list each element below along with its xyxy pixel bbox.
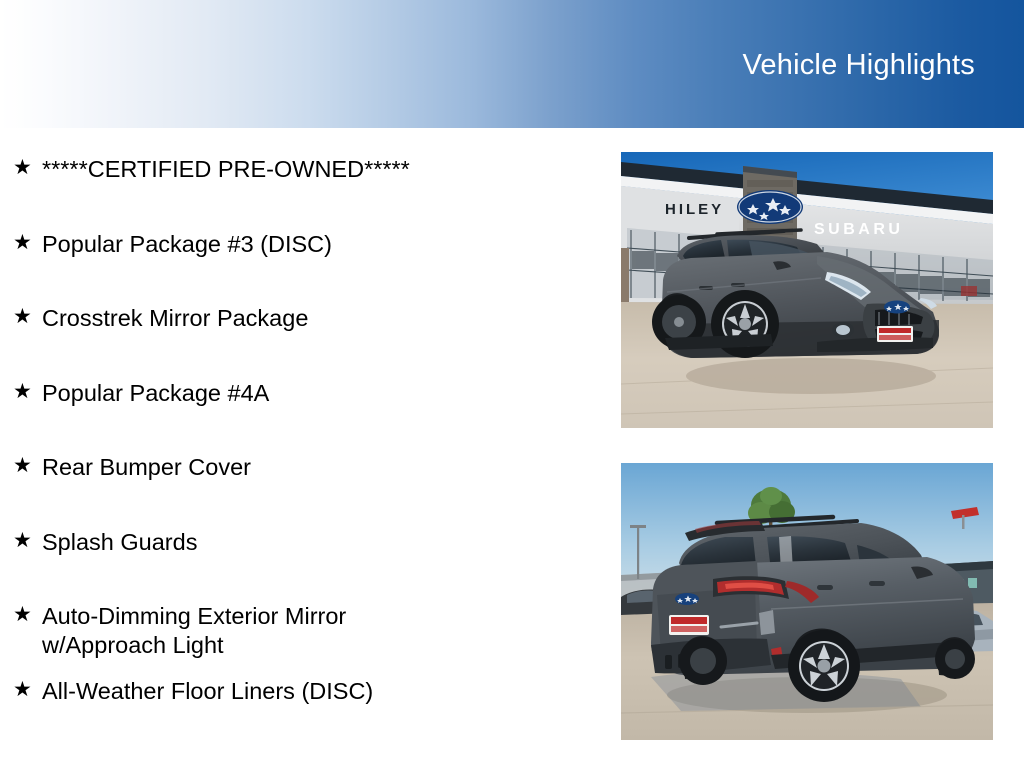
list-item: ★ Rear Bumper Cover <box>0 426 600 501</box>
list-item-label: Popular Package #4A <box>42 352 600 408</box>
list-item-label: Splash Guards <box>42 501 600 557</box>
vehicle-rear-image <box>621 463 993 740</box>
list-item-label: *****CERTIFIED PRE-OWNED***** <box>42 128 600 184</box>
vehicle-front-image: HILEY SUBARU <box>621 152 993 428</box>
star-bullet-icon: ★ <box>13 157 32 178</box>
list-item: ★ All-Weather Floor Liners (DISC) <box>0 650 600 725</box>
list-item-label: Popular Package #3 (DISC) <box>42 203 600 259</box>
star-bullet-icon: ★ <box>13 530 32 551</box>
list-item: ★ Popular Package #4A <box>0 352 600 427</box>
list-item-label: Crosstrek Mirror Package <box>42 277 600 333</box>
star-bullet-icon: ★ <box>13 232 32 253</box>
dealer-sign-subaru: SUBARU <box>814 221 903 238</box>
star-bullet-icon: ★ <box>13 604 32 625</box>
vehicle-photo-rear-three-quarter[interactable] <box>621 463 993 740</box>
list-item-label: Auto-Dimming Exterior Mirror w/Approach … <box>42 575 600 660</box>
star-bullet-icon: ★ <box>13 381 32 402</box>
star-bullet-icon: ★ <box>13 306 32 327</box>
page-title: Vehicle Highlights <box>742 48 975 82</box>
dealer-sign-hiley: HILEY <box>665 201 724 218</box>
vehicle-photo-front-three-quarter[interactable]: HILEY SUBARU <box>621 152 993 428</box>
list-item: ★ *****CERTIFIED PRE-OWNED***** <box>0 128 600 203</box>
list-item: ★ Splash Guards <box>0 501 600 576</box>
vehicle-highlights-list: ★ *****CERTIFIED PRE-OWNED***** ★ Popula… <box>0 128 600 724</box>
header-banner: Vehicle Highlights <box>0 0 1024 128</box>
list-item: ★ Auto-Dimming Exterior Mirror w/Approac… <box>0 575 600 650</box>
list-item-label: All-Weather Floor Liners (DISC) <box>42 650 600 706</box>
list-item: ★ Crosstrek Mirror Package <box>0 277 600 352</box>
star-bullet-icon: ★ <box>13 679 32 700</box>
star-bullet-icon: ★ <box>13 455 32 476</box>
list-item: ★ Popular Package #3 (DISC) <box>0 203 600 278</box>
subaru-logo-icon <box>737 190 803 224</box>
list-item-label: Rear Bumper Cover <box>42 426 600 482</box>
